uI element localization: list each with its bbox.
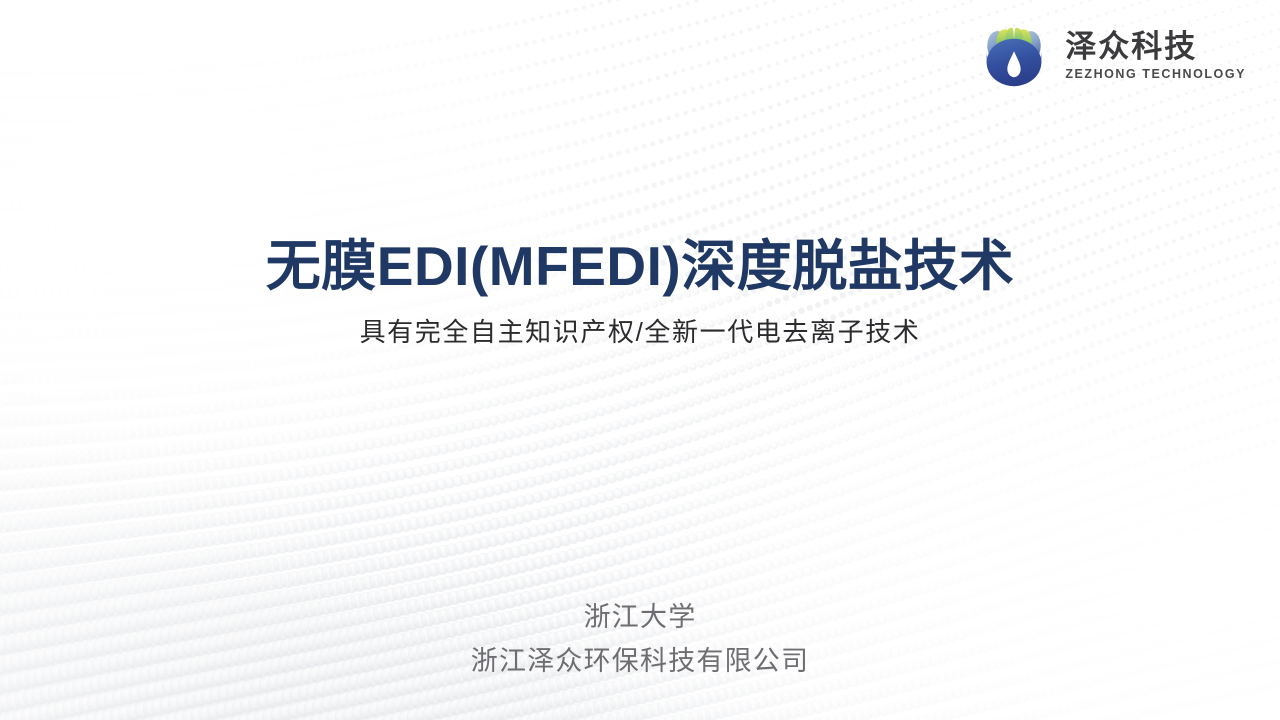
title-slide: 泽众科技 ZEZHONG TECHNOLOGY 无膜EDI(MFEDI)深度脱盐… bbox=[0, 0, 1280, 720]
company-logo: 泽众科技 ZEZHONG TECHNOLOGY bbox=[977, 18, 1246, 92]
affiliation-block: 浙江大学 浙江泽众环保科技有限公司 bbox=[0, 598, 1280, 681]
lotus-waterdrop-icon bbox=[977, 18, 1051, 92]
logo-wordmark: 泽众科技 ZEZHONG TECHNOLOGY bbox=[1065, 28, 1246, 83]
brand-name-cn: 泽众科技 bbox=[1065, 30, 1246, 63]
page-title: 无膜EDI(MFEDI)深度脱盐技术 bbox=[0, 236, 1280, 298]
affiliation-line-company: 浙江泽众环保科技有限公司 bbox=[0, 642, 1280, 680]
affiliation-line-university: 浙江大学 bbox=[0, 598, 1280, 636]
headline-block: 无膜EDI(MFEDI)深度脱盐技术 具有完全自主知识产权/全新一代电去离子技术 bbox=[0, 236, 1280, 349]
page-subtitle: 具有完全自主知识产权/全新一代电去离子技术 bbox=[0, 316, 1280, 350]
brand-name-en: ZEZHONG TECHNOLOGY bbox=[1065, 66, 1246, 82]
